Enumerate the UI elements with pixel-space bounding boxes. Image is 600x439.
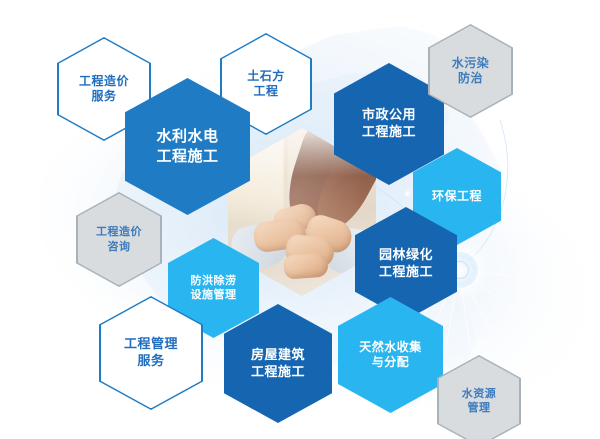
hex-label: 工程造价 咨询 [92,225,146,253]
hex-shuiwuran-fangzhi[interactable]: 水污染 防治 [428,24,513,118]
hex-gongcheng-guanli-fuwu[interactable]: 工程管理 服务 [99,296,203,410]
hex-gongcheng-zaojia-zixun[interactable]: 工程造价 咨询 [76,192,162,287]
hex-label: 环保工程 [428,189,486,204]
hex-label-line: 设施管理 [191,288,237,302]
hex-label-line: 工程施工 [379,264,433,281]
hex-shuiziyuan-guanli[interactable]: 水资源 管理 [437,355,521,439]
hex-label-line: 与分配 [359,355,422,370]
hex-label-line: 环保工程 [432,189,482,204]
hex-label-line: 水污染 [452,56,490,71]
hex-label-line: 管理 [462,401,497,415]
hex-label-line: 工程造价 [79,74,129,89]
hex-label: 水污染 防治 [448,56,494,87]
hex-label-line: 咨询 [96,240,142,254]
hex-label-line: 房屋建筑 [251,347,305,364]
hex-label-line: 市政公用 [362,107,416,124]
hex-label-line: 服务 [79,89,129,104]
hex-label-line: 水资源 [462,387,497,401]
hex-label-line: 防洪除涝 [191,274,237,288]
hex-label-line: 水利水电 [156,127,218,146]
hex-label: 工程管理 服务 [120,336,182,369]
hex-label-line: 工程施工 [156,147,218,166]
hex-label-line: 园林绿化 [379,247,433,264]
hex-label-line: 服务 [124,353,178,370]
hex-label-line: 防治 [452,71,490,86]
hex-label-line: 工程造价 [96,225,142,239]
hex-label-line: 工程 [247,84,285,99]
hex-label: 房屋建筑 工程施工 [247,347,309,380]
hex-label: 工程造价 服务 [75,74,133,105]
infographic-canvas: 工程造价 服务 土石方 工程 水利水电 工程施工 市政公用 工程施工 水污染 [0,0,600,439]
hex-label-line: 工程施工 [362,124,416,141]
hex-label: 水利水电 工程施工 [152,127,222,165]
hex-label: 水资源 管理 [458,387,501,415]
hex-label-line: 土石方 [247,69,285,84]
hex-label: 园林绿化 工程施工 [375,247,437,280]
hex-label: 土石方 工程 [243,69,289,100]
hex-label: 市政公用 工程施工 [358,107,420,140]
hex-label: 防洪除涝 设施管理 [187,274,241,302]
hex-tianranshui-shouji-yu-fenpei[interactable]: 天然水收集 与分配 [338,297,443,413]
hex-label-line: 工程管理 [124,336,178,353]
hex-label: 天然水收集 与分配 [355,340,426,371]
hex-fangwu-jianzhu-gongcheng-shigong[interactable]: 房屋建筑 工程施工 [224,304,332,423]
hex-label-line: 天然水收集 [359,340,422,355]
hex-label-line: 工程施工 [251,364,305,381]
